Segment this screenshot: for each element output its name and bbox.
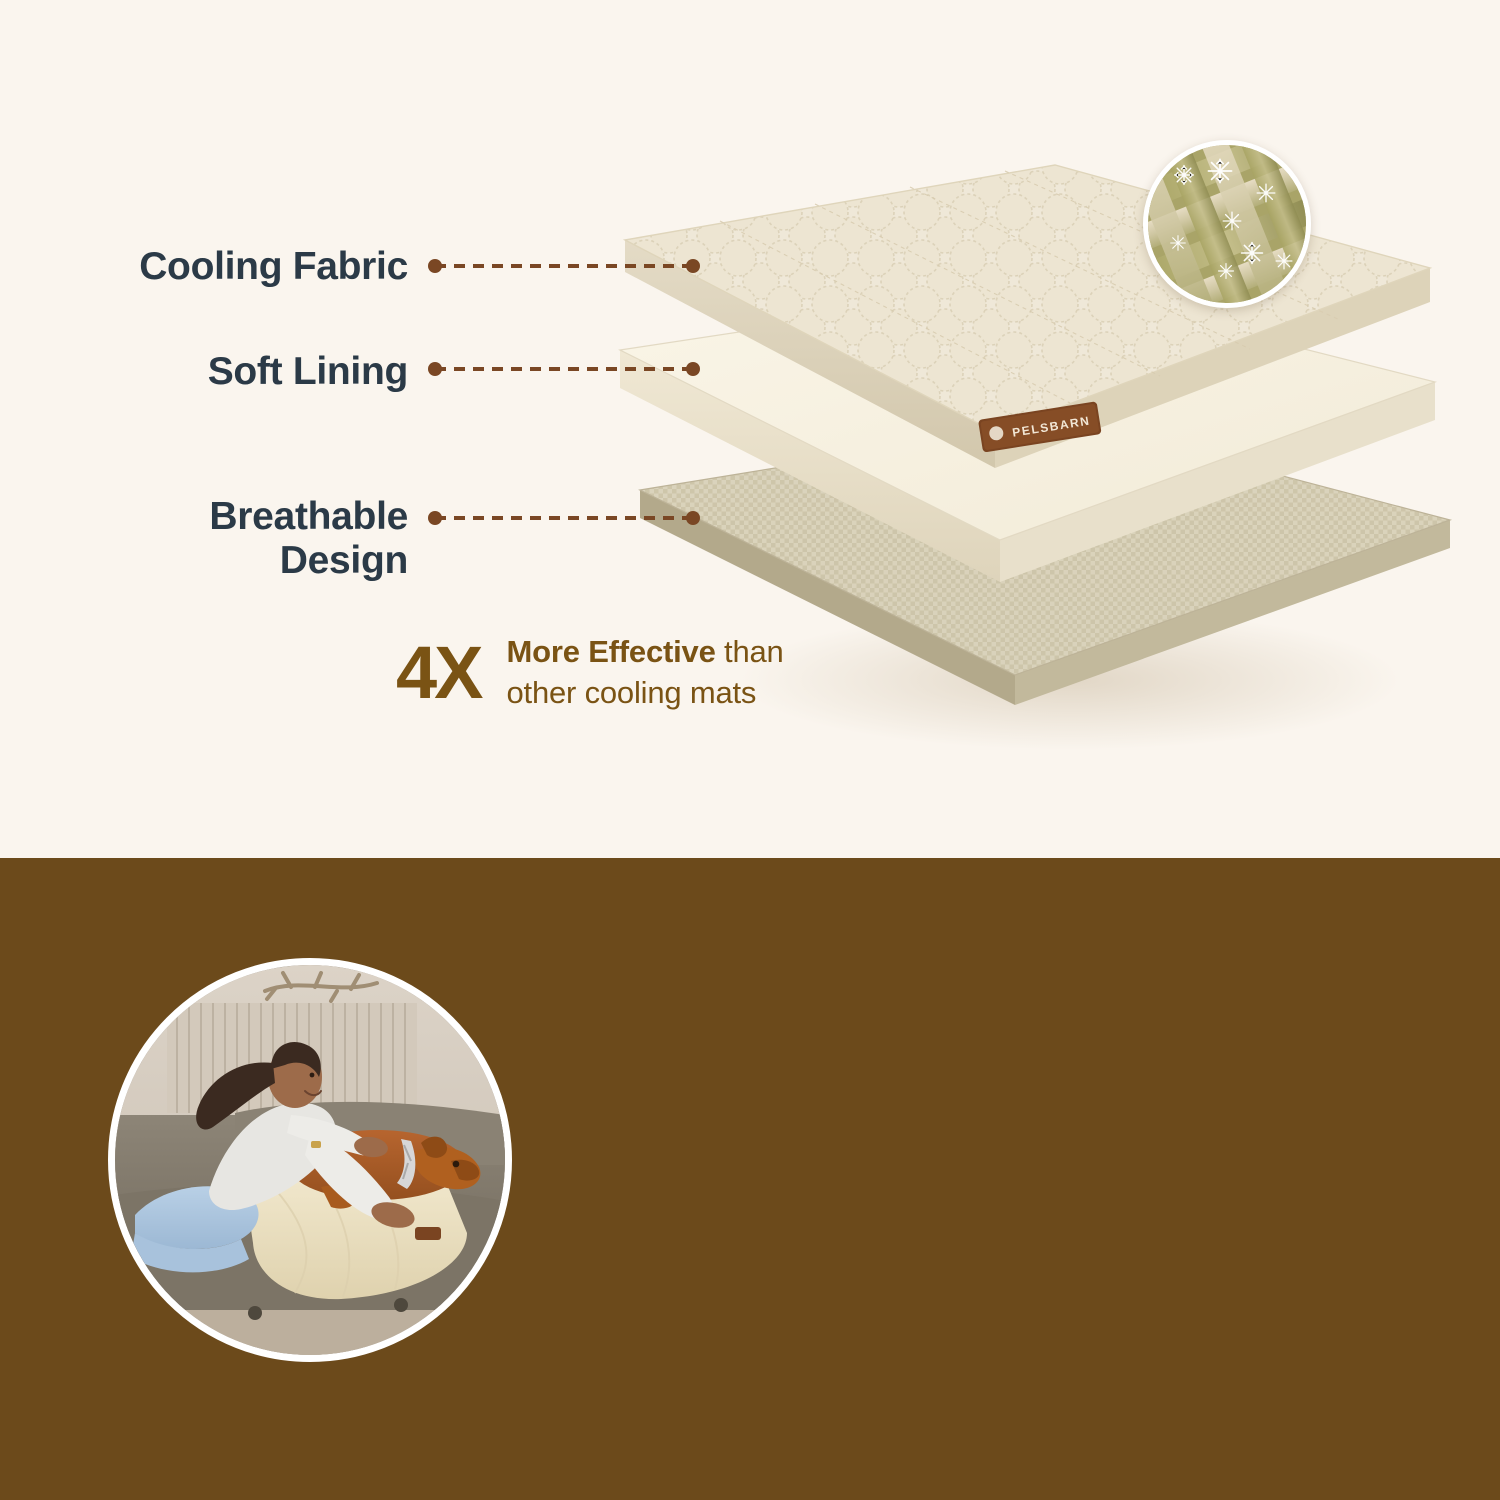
callout-label-soft-lining: Soft Lining xyxy=(88,350,408,394)
claim-rest-text: than xyxy=(716,634,784,669)
infographic-page: PELSBARN xyxy=(0,0,1500,1500)
leader-dash xyxy=(435,516,693,520)
leader-dot-end xyxy=(686,362,700,376)
claim-bold-text: More Effective xyxy=(507,634,716,669)
cooling-fabric-macro xyxy=(1143,140,1311,308)
leader-dot-end xyxy=(686,259,700,273)
leader-dash xyxy=(435,367,693,371)
features-banner: BUILT FOR FORM & FUNCTION Water xyxy=(0,858,1500,1500)
leader-dot-end xyxy=(686,511,700,525)
leader-dash xyxy=(435,264,693,268)
leader-line-cooling-fabric xyxy=(428,259,700,273)
callout-label-breathable-design: BreathableDesign xyxy=(88,495,408,584)
callout-label-cooling-fabric: Cooling Fabric xyxy=(88,245,408,289)
effectiveness-claim: 4X More Effective than other cooling mat… xyxy=(396,632,784,714)
claim-line-two: other cooling mats xyxy=(507,675,757,710)
claim-text: More Effective than other cooling mats xyxy=(507,632,784,714)
claim-multiplier: 4X xyxy=(396,640,481,707)
lifestyle-photo xyxy=(108,958,512,1362)
leader-line-breathable-design xyxy=(428,511,700,525)
leader-line-soft-lining xyxy=(428,362,700,376)
breathable-line-2: Design xyxy=(280,539,408,582)
product-layers-panel: PELSBARN xyxy=(0,0,1500,858)
breathable-line-1: Breathable xyxy=(209,495,408,538)
